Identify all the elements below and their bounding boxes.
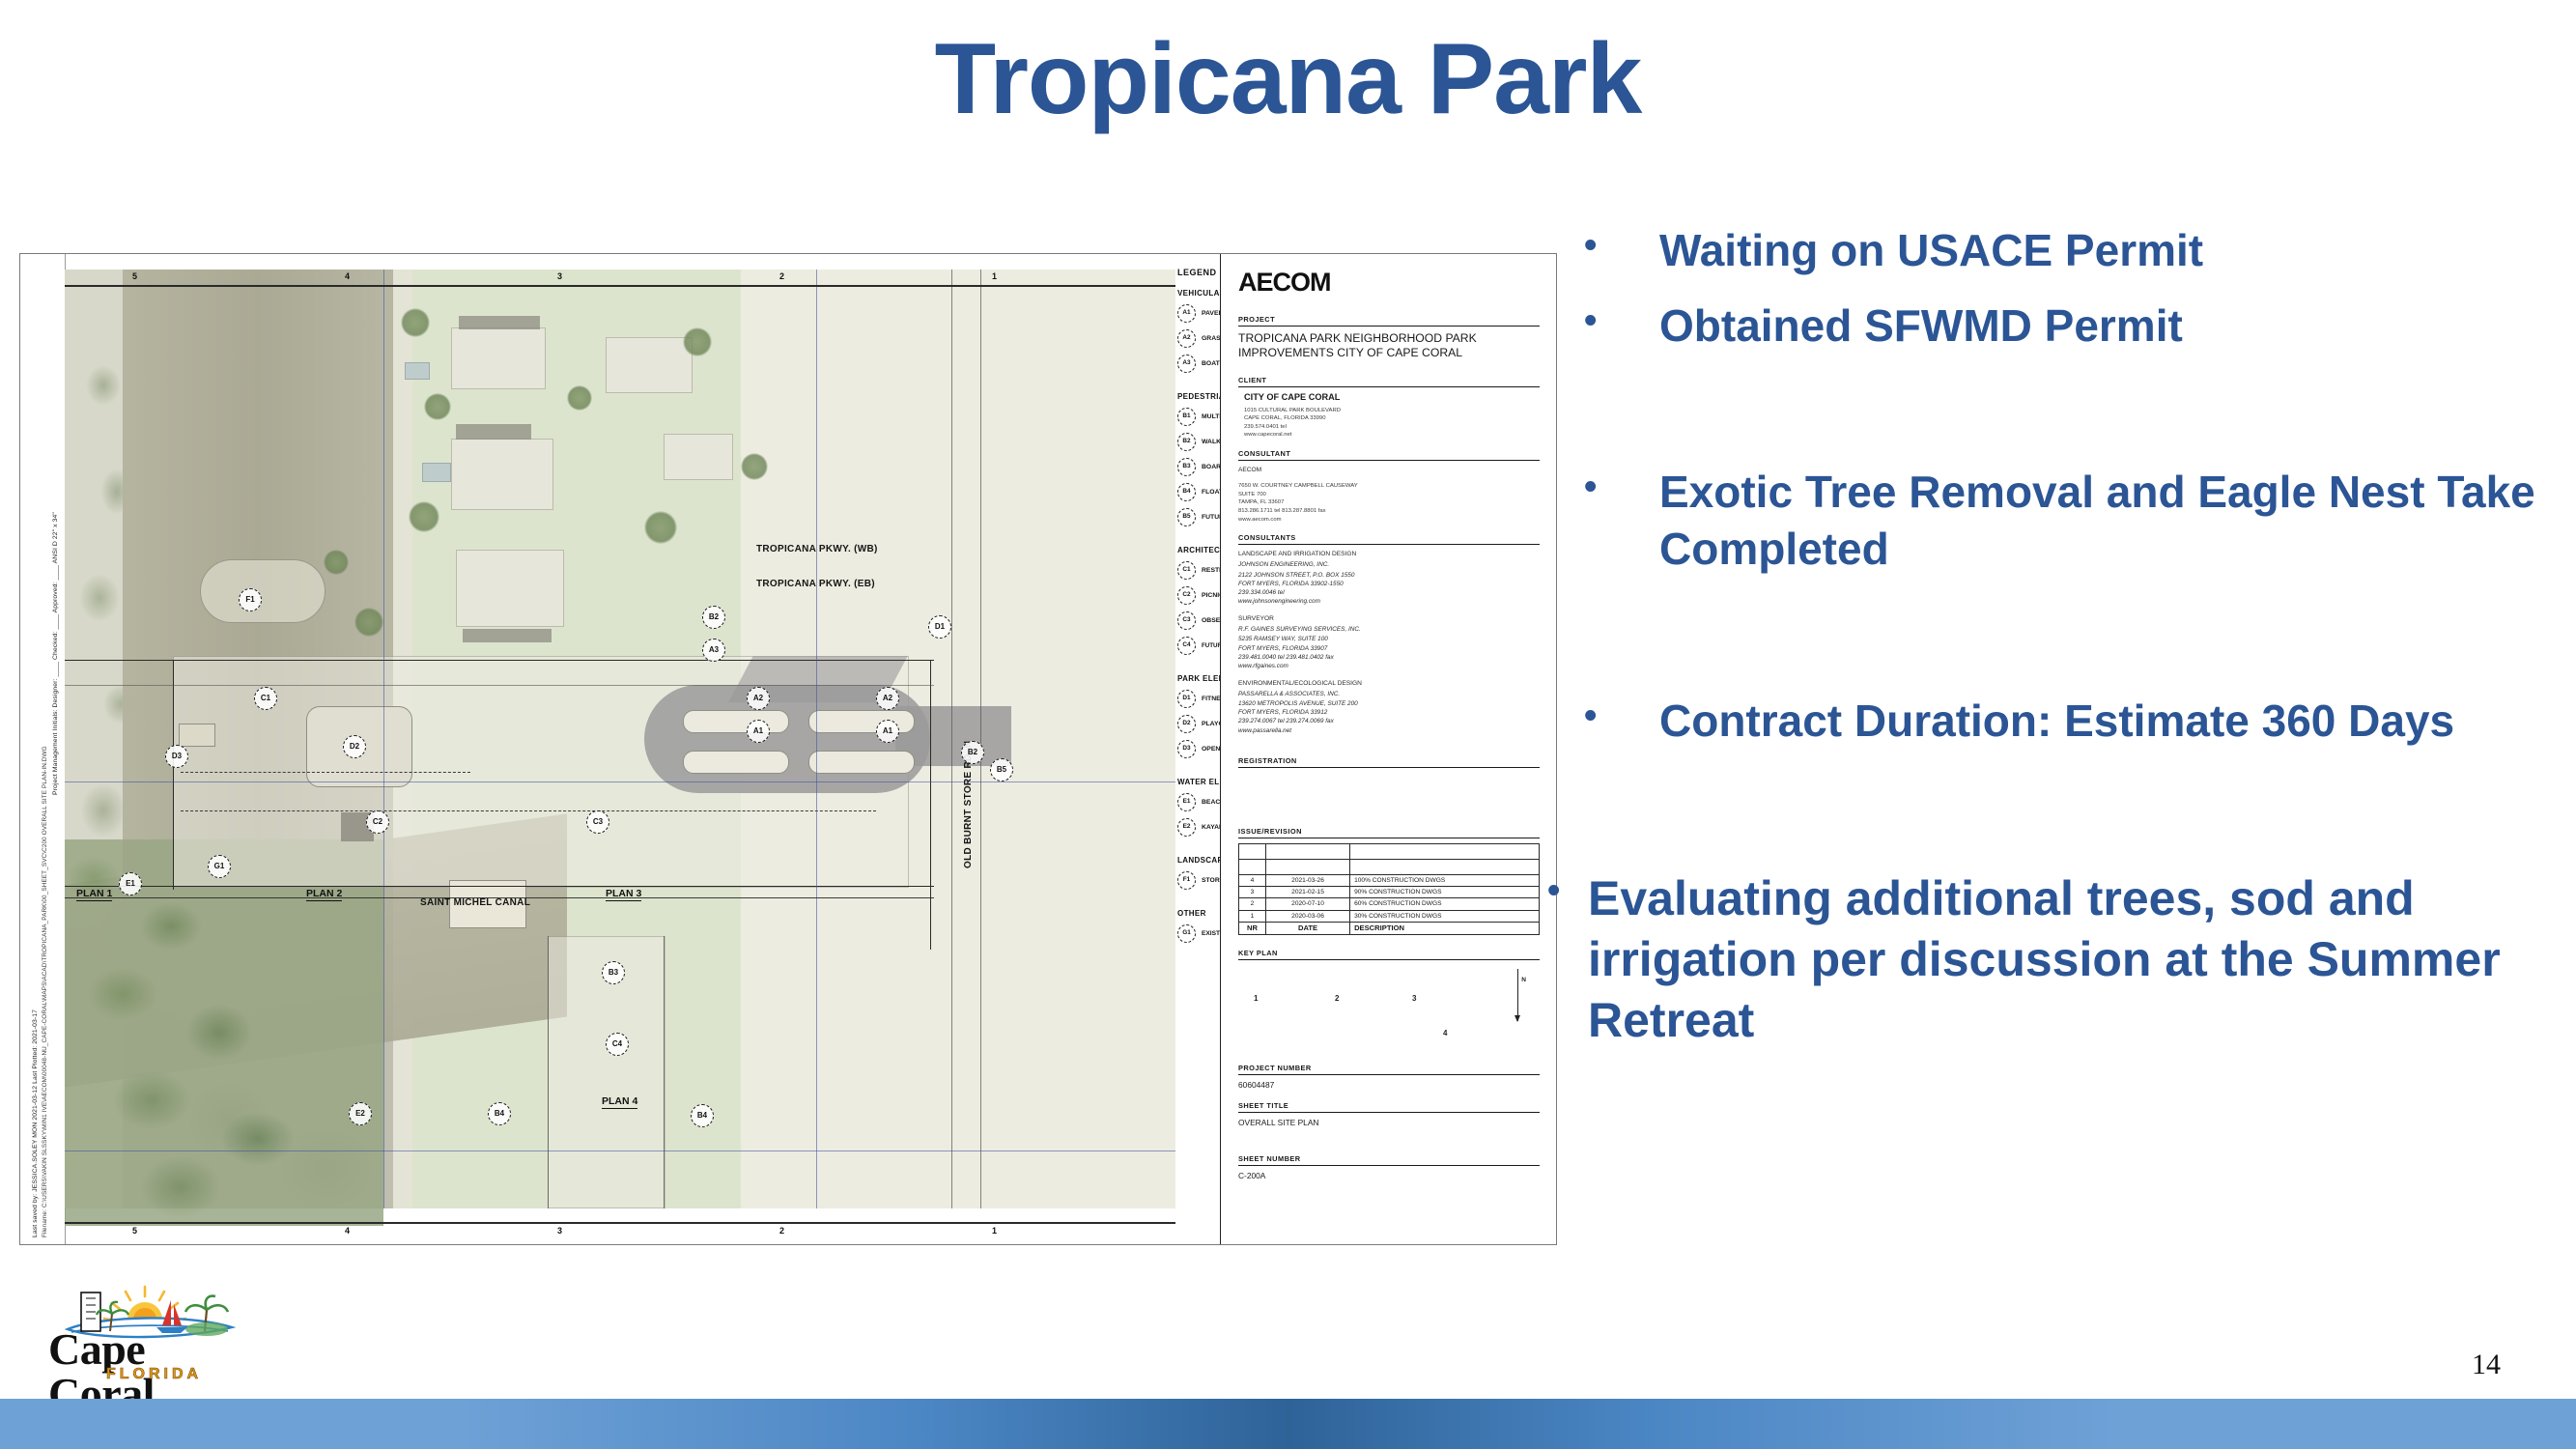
legend-tag: B4	[1177, 483, 1196, 501]
tree-canopy	[424, 393, 451, 420]
grid-tick-bottom-5: 5	[132, 1226, 137, 1236]
issue-revision-heading: ISSUE/REVISION	[1238, 827, 1540, 838]
cape-coral-logo: Cape Coral FLORIDA	[42, 1285, 251, 1391]
tree-canopy	[644, 511, 677, 544]
bullet-text: Evaluating additional trees, sod and irr…	[1588, 868, 2550, 1051]
keyplan-num-1: 1	[1254, 994, 1258, 1003]
callout-e1: E1	[119, 872, 142, 895]
building-roof-shadow	[463, 629, 552, 642]
grid-line-blue	[65, 781, 1175, 782]
grid-tick-top-5: 5	[132, 271, 137, 281]
grid-tick-bottom-3: 3	[557, 1226, 562, 1236]
future-path-dashed-line	[181, 810, 876, 811]
roadway-edge-line	[65, 685, 934, 686]
consultant-entry: SURVEYOR R.F. GAINES SURVEYING SERVICES,…	[1238, 614, 1540, 670]
legend-tag: E1	[1177, 793, 1196, 811]
revision-nr: 2	[1239, 898, 1266, 910]
logo-subwordmark: FLORIDA	[106, 1366, 202, 1383]
building-roof	[606, 337, 693, 393]
bullet-item-2: • Obtained SFWMD Permit	[1584, 298, 2550, 355]
bullet-item-3: • Exotic Tree Removal and Eagle Nest Tak…	[1584, 464, 2550, 580]
key-plan: 1 2 3 4 N	[1238, 965, 1540, 1058]
table-row: 3 2021-02-15 90% CONSTRUCTION DWGS	[1239, 887, 1540, 898]
bullet-marker: •	[1584, 298, 1659, 345]
project-name: TROPICANA PARK NEIGHBORHOOD PARK IMPROVE…	[1238, 331, 1540, 360]
road-label-tropicana-eb: TROPICANA PKWY. (EB)	[756, 579, 875, 589]
parking-island	[683, 751, 789, 774]
consultant-discipline: LANDSCAPE AND IRRIGATION DESIGN	[1238, 550, 1540, 558]
title-block: AECOM PROJECT TROPICANA PARK NEIGHBORHOO…	[1220, 254, 1556, 1244]
tree-canopy	[354, 608, 383, 637]
keyplan-heading: KEY PLAN	[1238, 949, 1540, 960]
bullet-item-1: • Waiting on USACE Permit	[1584, 222, 2550, 280]
legend-tag: B5	[1177, 508, 1196, 526]
callout-e2: E2	[349, 1102, 372, 1125]
legend-tag: D1	[1177, 690, 1196, 708]
footer-bar	[0, 1399, 2576, 1449]
tree-canopy	[324, 550, 349, 575]
bullet-text: Obtained SFWMD Permit	[1659, 298, 2550, 355]
grid-tick-top-2: 2	[779, 271, 784, 281]
callout-a3: A3	[702, 639, 725, 662]
callout-a2: A2	[876, 687, 899, 710]
grid-tick-bottom-1: 1	[992, 1226, 997, 1236]
revision-date: 2020-03-06	[1265, 910, 1349, 922]
consultant-name: AECOM	[1238, 466, 1540, 474]
legend-tag: B2	[1177, 433, 1196, 451]
callout-b2: B2	[702, 606, 725, 629]
plan-tag-3: PLAN 3	[606, 888, 641, 901]
client-address: 1015 CULTURAL PARK BOULEVARD CAPE CORAL,…	[1238, 407, 1540, 440]
callout-d3: D3	[165, 745, 188, 768]
bullet-text: Waiting on USACE Permit	[1659, 222, 2550, 280]
roadway-edge-line	[951, 270, 952, 1208]
page-number: 14	[2472, 1349, 2501, 1381]
revision-date: 2021-03-26	[1265, 874, 1349, 886]
slide-canvas: Tropicana Park Last saved by: JESSICA.SO…	[0, 0, 2576, 1449]
table-row	[1239, 843, 1540, 859]
legend-tag: C3	[1177, 611, 1196, 630]
keyplan-num-2: 2	[1335, 994, 1339, 1003]
bullet-text: Exotic Tree Removal and Eagle Nest Take …	[1659, 464, 2550, 580]
revision-col-desc: DESCRIPTION	[1350, 922, 1540, 934]
plan-tag-1: PLAN 1	[76, 888, 112, 901]
callout-b5: B5	[990, 758, 1013, 781]
keyplan-num-3: 3	[1412, 994, 1416, 1003]
callout-c3: C3	[586, 810, 609, 834]
building-roof	[451, 439, 553, 510]
callout-g1: G1	[208, 855, 231, 878]
consultant-heading: CONSULTANT	[1238, 449, 1540, 461]
grid-tick-top-1: 1	[992, 271, 997, 281]
consultant-firm: PASSARELLA & ASSOCIATES, INC.	[1238, 690, 1540, 698]
revision-desc: 100% CONSTRUCTION DWGS	[1350, 874, 1540, 886]
property-line	[930, 660, 931, 950]
property-line	[65, 660, 934, 661]
tree-canopy	[401, 308, 430, 337]
building-roof	[451, 327, 546, 389]
consultants-heading: CONSULTANTS	[1238, 533, 1540, 545]
callout-c1: C1	[254, 687, 277, 710]
drawing-body: PLAN 1 PLAN 2 PLAN 3 PLAN 4 TROPICANA PK…	[65, 254, 1556, 1244]
tree-canopy	[683, 327, 712, 356]
consultant-entry: LANDSCAPE AND IRRIGATION DESIGN JOHNSON …	[1238, 550, 1540, 606]
revision-desc: 60% CONSTRUCTION DWGS	[1350, 898, 1540, 910]
sheet-title: OVERALL SITE PLAN	[1238, 1118, 1540, 1127]
walking-path-dashed-line	[181, 772, 470, 773]
consultant-address: 7650 W. COURTNEY CAMPBELL CAUSEWAY SUITE…	[1238, 482, 1540, 524]
callout-b2: B2	[961, 741, 984, 764]
client-name: CITY OF CAPE CORAL	[1238, 392, 1540, 404]
callout-b4: B4	[488, 1102, 511, 1125]
callout-a2: A2	[747, 687, 770, 710]
table-header-row: NR DATE DESCRIPTION	[1239, 922, 1540, 934]
north-arrow-icon	[1517, 969, 1518, 1021]
table-row: 2 2020-07-10 60% CONSTRUCTION DWGS	[1239, 898, 1540, 910]
bullet-marker: •	[1584, 693, 1659, 740]
callout-b4: B4	[691, 1104, 714, 1127]
bullet-item-5: • Evaluating additional trees, sod and i…	[1547, 868, 2550, 1051]
tree-canopy	[741, 453, 768, 480]
revision-nr: 3	[1239, 887, 1266, 898]
grid-line-blue	[816, 270, 817, 1208]
client-heading: CLIENT	[1238, 376, 1540, 387]
table-row: 1 2020-03-06 30% CONSTRUCTION DWGS	[1239, 910, 1540, 922]
plot-management-initials: Project Management Initials: Designer: _…	[52, 512, 59, 795]
building-roof	[456, 550, 564, 627]
drawing-left-margin: Last saved by: JESSICA.SOLEY MON 2021-03…	[20, 254, 66, 1244]
building-roof-shadow	[456, 424, 531, 440]
legend-tag: B1	[1177, 408, 1196, 426]
consultant-address: 5235 RAMSEY WAY, SUITE 100 FORT MYERS, F…	[1238, 635, 1540, 669]
legend-tag: C1	[1177, 561, 1196, 580]
callout-a1: A1	[747, 720, 770, 743]
grid-tick-top-4: 4	[345, 271, 350, 281]
revision-date: 2020-07-10	[1265, 898, 1349, 910]
road-label-tropicana-wb: TROPICANA PKWY. (WB)	[756, 544, 878, 554]
project-number: 60604487	[1238, 1080, 1540, 1090]
parking-island	[808, 751, 915, 774]
legend-tag: D3	[1177, 740, 1196, 758]
grid-line-blue	[65, 1151, 1175, 1151]
table-row: 4 2021-03-26 100% CONSTRUCTION DWGS	[1239, 874, 1540, 886]
grid-tick-bottom-4: 4	[345, 1226, 350, 1236]
project-heading: PROJECT	[1238, 315, 1540, 327]
aecom-logo: AECOM	[1238, 268, 1540, 298]
site-plan-drawing: Last saved by: JESSICA.SOLEY MON 2021-03…	[19, 253, 1557, 1245]
revision-nr: 1	[1239, 910, 1266, 922]
table-row	[1239, 859, 1540, 874]
keyplan-num-4: 4	[1443, 1029, 1447, 1037]
property-line	[65, 886, 934, 887]
revision-date: 2021-02-15	[1265, 887, 1349, 898]
consultant-entry: ENVIRONMENTAL/ECOLOGICAL DESIGN PASSAREL…	[1238, 679, 1540, 735]
tree-canopy	[567, 385, 592, 411]
legend-tag: B3	[1177, 458, 1196, 476]
aerial-overlay: PLAN 1 PLAN 2 PLAN 3 PLAN 4 TROPICANA PK…	[65, 270, 1175, 1208]
project-number-heading: PROJECT NUMBER	[1238, 1064, 1540, 1075]
registration-seal-area	[1238, 773, 1540, 827]
bullet-list: • Waiting on USACE Permit • Obtained SFW…	[1584, 222, 2550, 1051]
callout-b3: B3	[602, 961, 625, 984]
parcel-line	[664, 936, 665, 1208]
legend-tag: A3	[1177, 355, 1196, 373]
tree-canopy	[409, 501, 439, 532]
plot-filename: Filename: C:\USERS\VAKIN SLSSKY\MIN1 IVE…	[42, 271, 48, 1237]
revision-col-date: DATE	[1265, 922, 1349, 934]
canal-label-saint-michel: SAINT MICHEL CANAL	[420, 897, 530, 908]
stormwater-area	[200, 559, 326, 623]
building-roof	[664, 434, 733, 480]
callout-c4: C4	[606, 1033, 629, 1056]
page-title: Tropicana Park	[0, 27, 2576, 132]
roadway-edge-line	[980, 270, 981, 1208]
sheet-title-heading: SHEET TITLE	[1238, 1101, 1540, 1113]
legend-tag: A2	[1177, 329, 1196, 348]
legend-tag: C2	[1177, 586, 1196, 605]
legend-tag: A1	[1177, 304, 1196, 323]
callout-a1: A1	[876, 720, 899, 743]
legend-tag: G1	[1177, 924, 1196, 943]
consultant-firm: R.F. GAINES SURVEYING SERVICES, INC.	[1238, 625, 1540, 634]
consultant-firm: JOHNSON ENGINEERING, INC.	[1238, 560, 1540, 569]
callout-c2: C2	[366, 810, 389, 834]
revision-nr: 4	[1239, 874, 1266, 886]
drawing-border-top	[65, 285, 1175, 287]
bullet-text: Contract Duration: Estimate 360 Days	[1659, 693, 2550, 751]
callout-f1: F1	[239, 588, 262, 611]
registration-heading: REGISTRATION	[1238, 756, 1540, 768]
bullet-marker: •	[1584, 464, 1659, 511]
revision-desc: 30% CONSTRUCTION DWGS	[1350, 910, 1540, 922]
parking-island	[683, 710, 789, 733]
legend-tag: D2	[1177, 715, 1196, 733]
plan-tag-2: PLAN 2	[306, 888, 342, 901]
parcel-line	[548, 936, 549, 1208]
swimming-pool	[422, 463, 451, 482]
consultant-address: 13620 METROPOLIS AVENUE, SUITE 200 FORT …	[1238, 699, 1540, 734]
building-roof-shadow	[459, 316, 540, 329]
consultant-discipline: SURVEYOR	[1238, 614, 1540, 623]
bullet-marker: •	[1584, 222, 1659, 270]
restroom-structure	[179, 724, 215, 747]
north-label: N	[1521, 977, 1526, 983]
grid-tick-top-3: 3	[557, 271, 562, 281]
plot-saved-by: Last saved by: JESSICA.SOLEY MON 2021-03…	[32, 1009, 39, 1237]
callout-d1: D1	[928, 615, 951, 639]
legend-tag: F1	[1177, 871, 1196, 890]
plan-tag-4: PLAN 4	[602, 1095, 637, 1109]
bullet-marker: •	[1547, 868, 1588, 915]
legend-tag: E2	[1177, 818, 1196, 837]
callout-d2: D2	[343, 735, 366, 758]
grid-line-blue	[383, 270, 384, 1208]
sheet-number: C-200A	[1238, 1171, 1540, 1180]
grid-tick-bottom-2: 2	[779, 1226, 784, 1236]
drawing-border-bottom	[65, 1222, 1175, 1224]
sheet-number-heading: SHEET NUMBER	[1238, 1154, 1540, 1166]
consultant-address: 2122 JOHNSON STREET, P.O. BOX 1550 FORT …	[1238, 571, 1540, 606]
swimming-pool	[405, 362, 430, 380]
consultant-discipline: ENVIRONMENTAL/ECOLOGICAL DESIGN	[1238, 679, 1540, 688]
property-line	[173, 660, 174, 890]
revision-col-nr: NR	[1239, 922, 1266, 934]
revision-desc: 90% CONSTRUCTION DWGS	[1350, 887, 1540, 898]
bullet-item-4: • Contract Duration: Estimate 360 Days	[1584, 693, 2550, 751]
revision-table: 4 2021-03-26 100% CONSTRUCTION DWGS 3 20…	[1238, 843, 1540, 935]
legend-tag: C4	[1177, 637, 1196, 655]
